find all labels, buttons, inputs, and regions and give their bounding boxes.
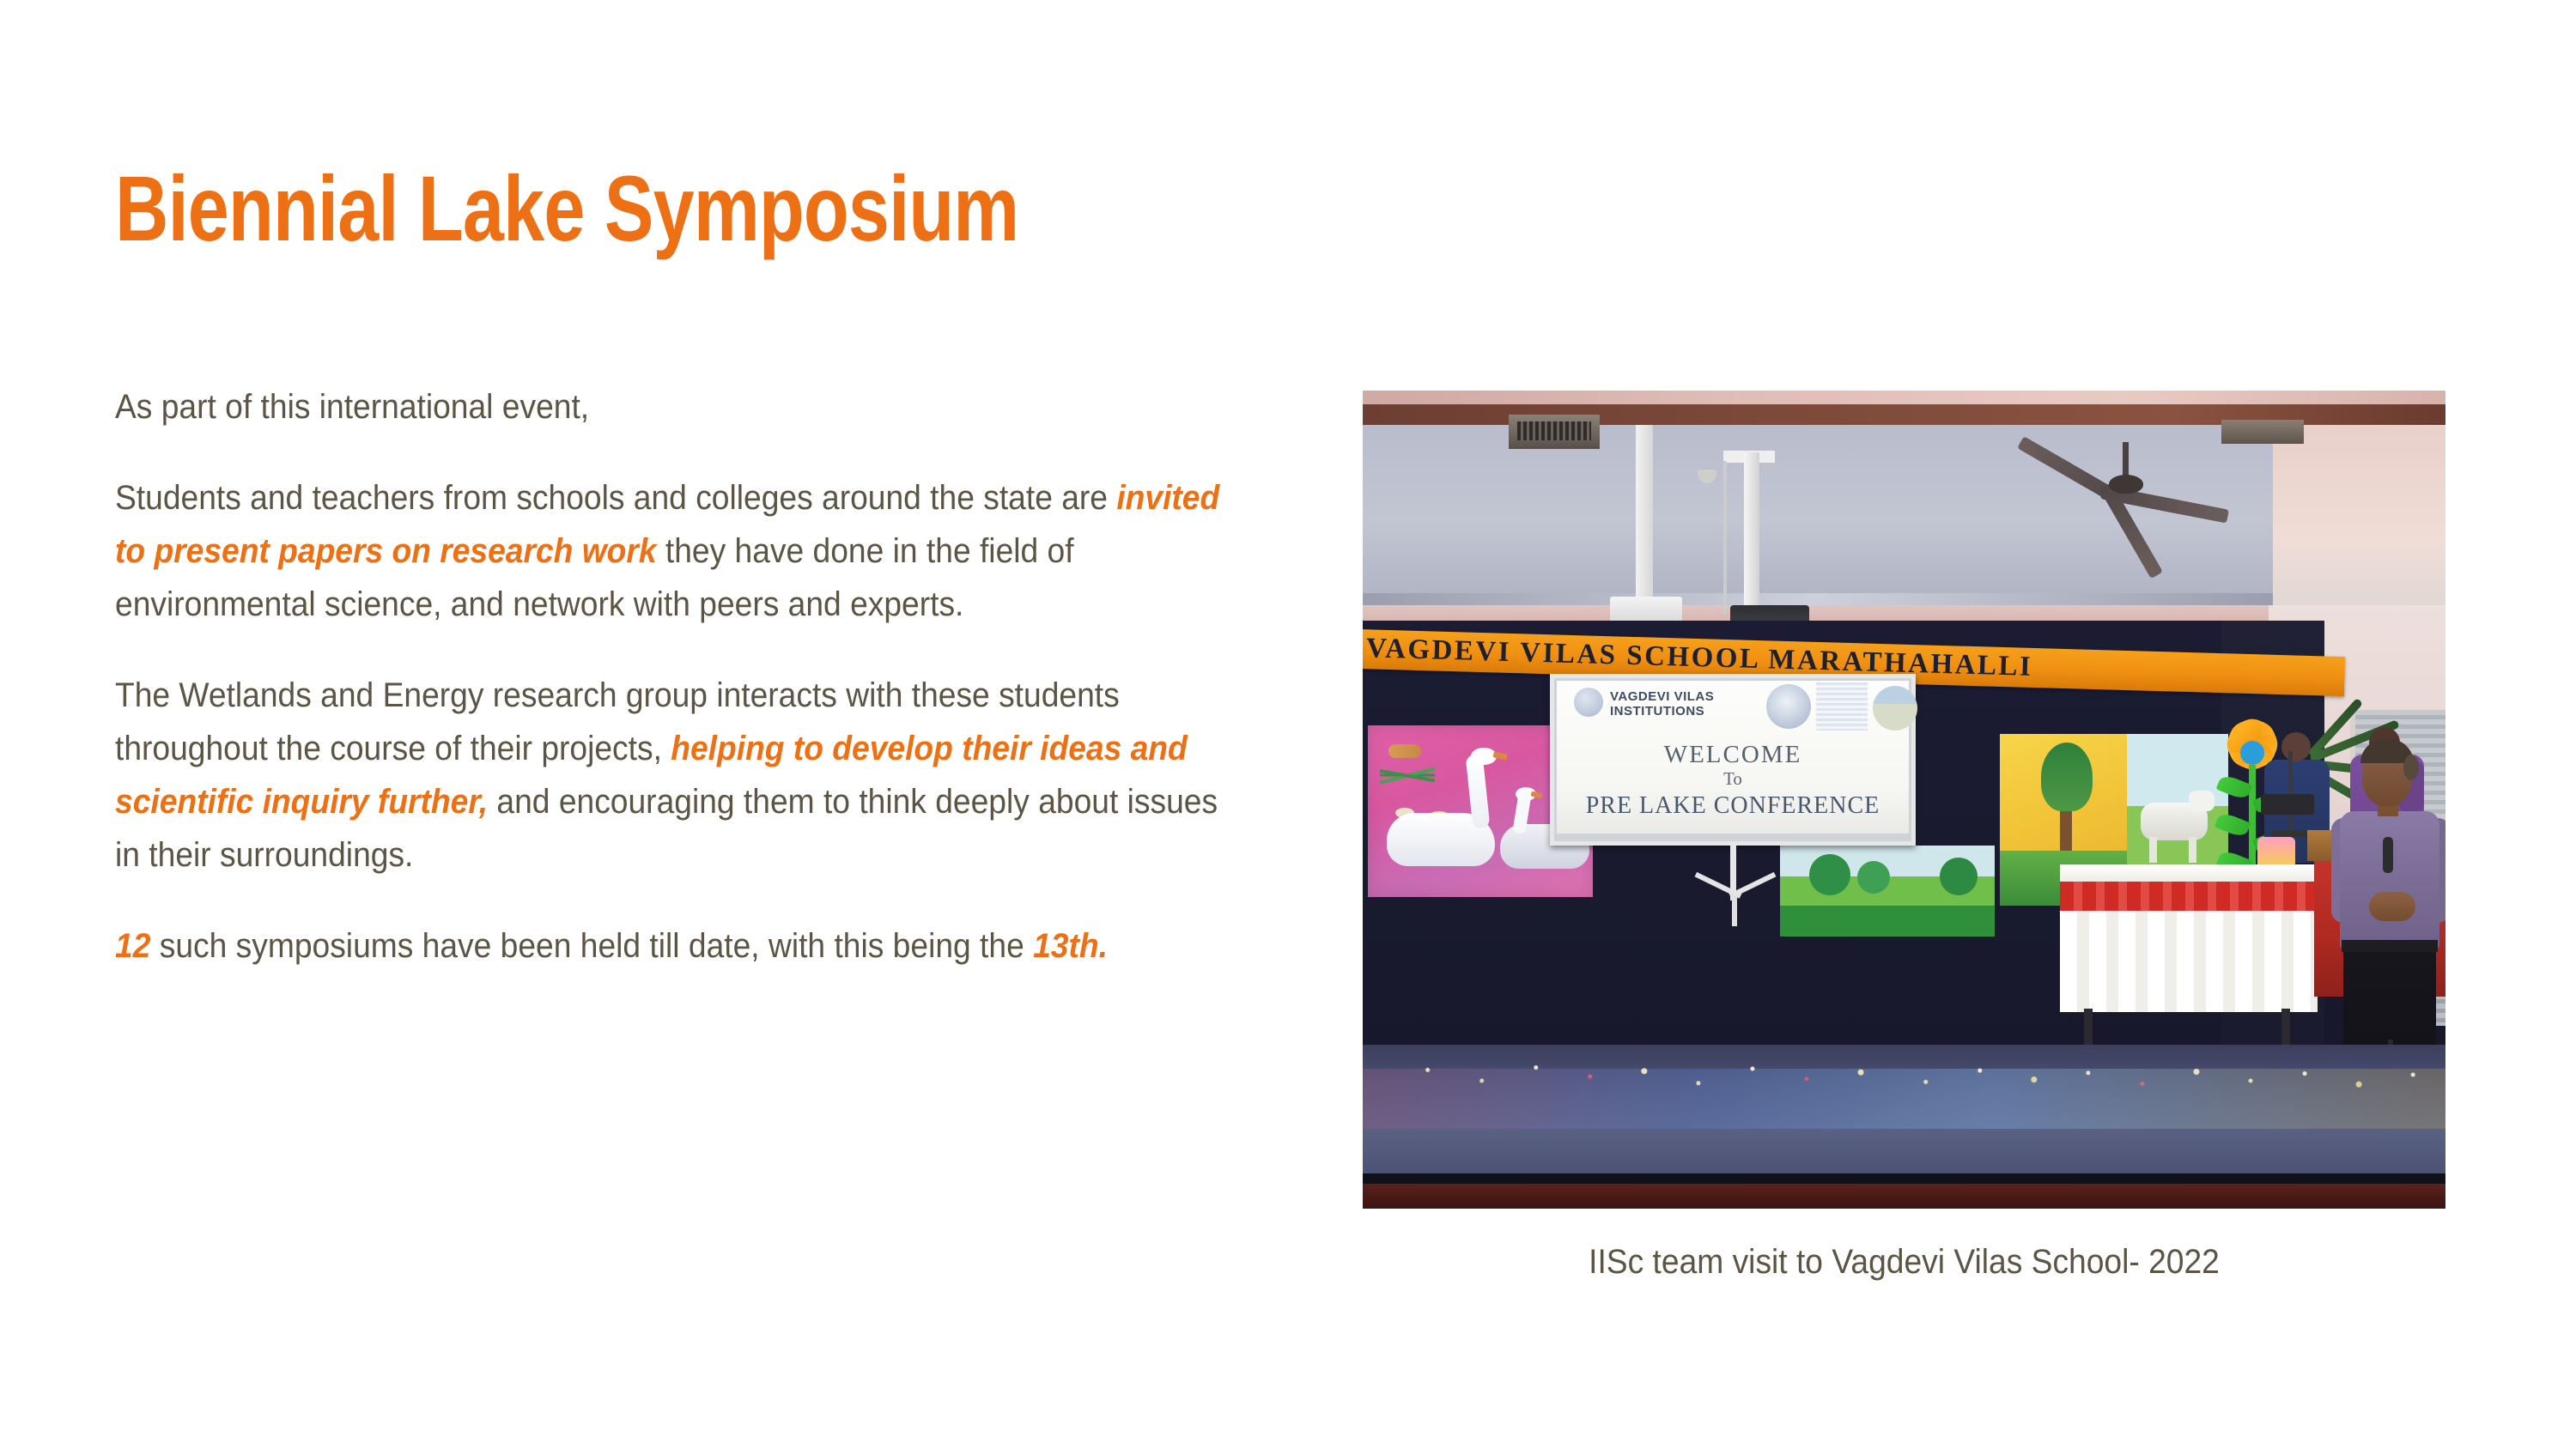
yellow-painting-canopy <box>2041 743 2093 811</box>
draped-table-top <box>2060 864 2318 883</box>
ceiling-duct-grille <box>1517 421 1591 440</box>
paragraph-run: As part of this international event, <box>115 388 589 426</box>
paragraph-participants: Students and teachers from schools and c… <box>115 471 1249 631</box>
projector-mount-rod <box>1636 425 1653 601</box>
laptop-device <box>2261 794 2314 815</box>
ceiling-surface <box>1363 421 2273 602</box>
slide-canvas: Biennial Lake Symposium As part of this … <box>0 0 2576 1449</box>
speaker-hands <box>2369 892 2415 921</box>
draped-table-skirt <box>2060 911 2318 1012</box>
ceiling-lip <box>1363 593 2273 605</box>
cow-painting-head <box>2189 791 2215 811</box>
cow-painting-leg <box>2189 837 2196 863</box>
speaker-torso <box>2340 811 2439 949</box>
lake-photo-icon <box>1873 686 1917 731</box>
screen-tripod-leg <box>1732 895 1737 926</box>
second-projector-rod <box>1744 452 1759 609</box>
body-text-column: As part of this international event, Stu… <box>115 380 1257 973</box>
photo-caption: IISc team visit to Vagdevi Vilas School-… <box>1400 1243 2408 1282</box>
confetti-on-floor <box>1363 1057 2445 1117</box>
speaker-hair-side <box>2403 755 2419 780</box>
document-thumbnail-icon <box>1816 682 1868 731</box>
projection-conference-text: PRE LAKE CONFERENCE <box>1553 792 1912 820</box>
paragraph-intro: As part of this international event, <box>115 380 1249 433</box>
institution-logo-icon <box>1574 688 1603 717</box>
paragraph-run-emphasis: 13th. <box>1033 927 1108 965</box>
projection-to-text: To <box>1557 768 1909 790</box>
paragraph-run: Students and teachers from schools and c… <box>115 479 1116 517</box>
event-photograph: VAGDEVI VILAS SCHOOL MARATHAHALLI <box>1363 391 2445 1209</box>
handheld-microphone <box>2383 837 2393 873</box>
paragraph-count: 12 such symposiums have been held till d… <box>115 919 1249 973</box>
landscape-painting-tree <box>1940 858 1978 895</box>
ceiling-fan-hub <box>2109 475 2143 494</box>
painting-reeds <box>1380 751 1435 799</box>
page-title: Biennial Lake Symposium <box>115 160 1283 257</box>
projection-organization-text: VAGDEVI VILAS INSTITUTIONS <box>1610 689 1765 718</box>
ceiling-right-section <box>2273 415 2445 621</box>
microphone-stand-base <box>2271 830 2311 837</box>
event-photo-figure: VAGDEVI VILAS SCHOOL MARATHAHALLI <box>1363 391 2445 1282</box>
ceiling-vent <box>2221 420 2304 444</box>
speaker-belt <box>2342 940 2438 952</box>
portrait-icon <box>1766 684 1811 729</box>
microphone-stand <box>2288 751 2293 834</box>
paragraph-run-emphasis: 12 <box>115 927 150 965</box>
stage-front-panel <box>1363 1184 2445 1209</box>
audience-member-head <box>2281 732 2311 761</box>
paragraph-run: such symposiums have been held till date… <box>150 927 1033 965</box>
landscape-painting-tree <box>1809 854 1850 895</box>
draped-table-red-frill <box>2060 882 2318 912</box>
paragraph-research-group: The Wetlands and Energy research group i… <box>115 669 1249 882</box>
projection-welcome-text: WELCOME <box>1557 741 1909 769</box>
cow-painting-leg <box>2149 837 2157 863</box>
landscape-painting-tree <box>1857 861 1890 894</box>
flower-center <box>2240 741 2264 765</box>
second-projector-wire <box>1723 461 1727 614</box>
painting-reed-tops <box>1388 744 1421 758</box>
